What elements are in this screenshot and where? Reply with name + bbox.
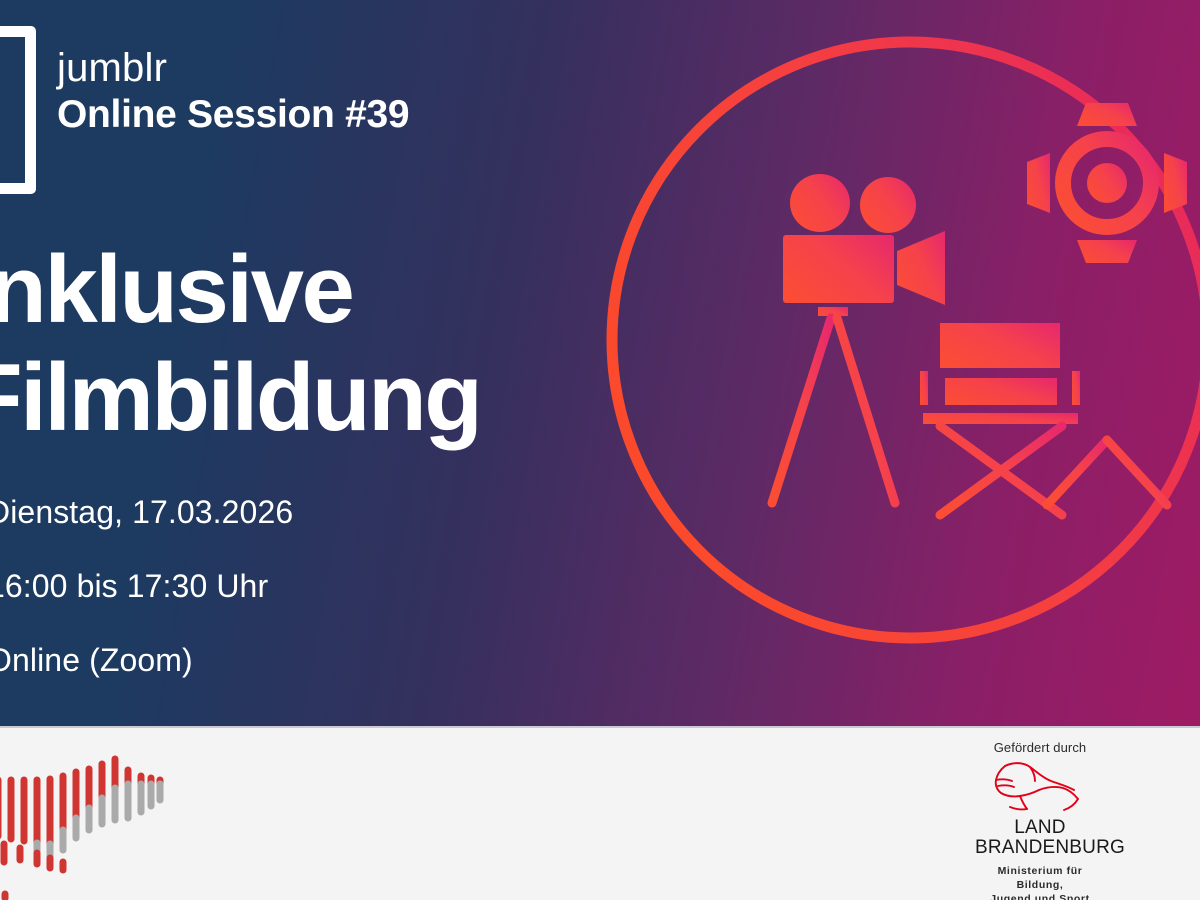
title-line-1: Inklusive — [0, 236, 664, 344]
funder-label: Gefördert durch — [975, 740, 1105, 755]
event-banner: jumblr Online Session #39 Inklusive Film… — [0, 0, 1200, 900]
jumblr-bars-logo — [0, 740, 210, 900]
chair-arm-right — [1072, 371, 1080, 405]
funder-state-line-2: BRANDENBURG — [975, 838, 1105, 857]
chair-arm-left — [920, 371, 928, 405]
footer-divider — [0, 726, 1200, 728]
footer: Gefördert durch — [0, 726, 1200, 900]
camera-reel-right — [860, 177, 916, 233]
event-location: Online (Zoom) — [0, 644, 607, 676]
brand-name: jumblr — [57, 48, 167, 88]
jumblr-frame-mark-icon — [0, 26, 36, 194]
brandenburg-eagle-icon — [975, 759, 1105, 817]
camera-tripod-leg-left — [772, 318, 831, 503]
light-stand-leg-left — [1047, 440, 1107, 505]
chair-seat-bar — [923, 413, 1078, 424]
camera-lens — [897, 231, 945, 305]
camera-reel-left — [790, 174, 850, 232]
event-details: Dienstag, 17.03.2026 16:00 bis 17:30 Uhr… — [0, 496, 607, 676]
funder-state-line-1: LAND — [975, 818, 1105, 837]
event-date: Dienstag, 17.03.2026 — [0, 496, 607, 528]
title-line-2: Filmbildung — [0, 344, 664, 452]
funder-block: Gefördert durch — [975, 740, 1105, 900]
film-production-icon — [600, 0, 1200, 725]
camera-tripod-leg-right — [837, 318, 895, 503]
funder-department: Ministerium für Bildung, Jugend und Spor… — [975, 864, 1105, 900]
chair-backrest — [940, 323, 1060, 368]
event-time: 16:00 bis 17:30 Uhr — [0, 570, 607, 602]
camera-body — [783, 235, 894, 303]
light-stand-leg-right — [1107, 440, 1167, 505]
session-label: Online Session #39 — [57, 95, 409, 134]
hero-section: jumblr Online Session #39 Inklusive Film… — [0, 0, 1200, 726]
page-title: Inklusive Filmbildung — [0, 236, 664, 451]
chair-seat — [945, 378, 1057, 405]
